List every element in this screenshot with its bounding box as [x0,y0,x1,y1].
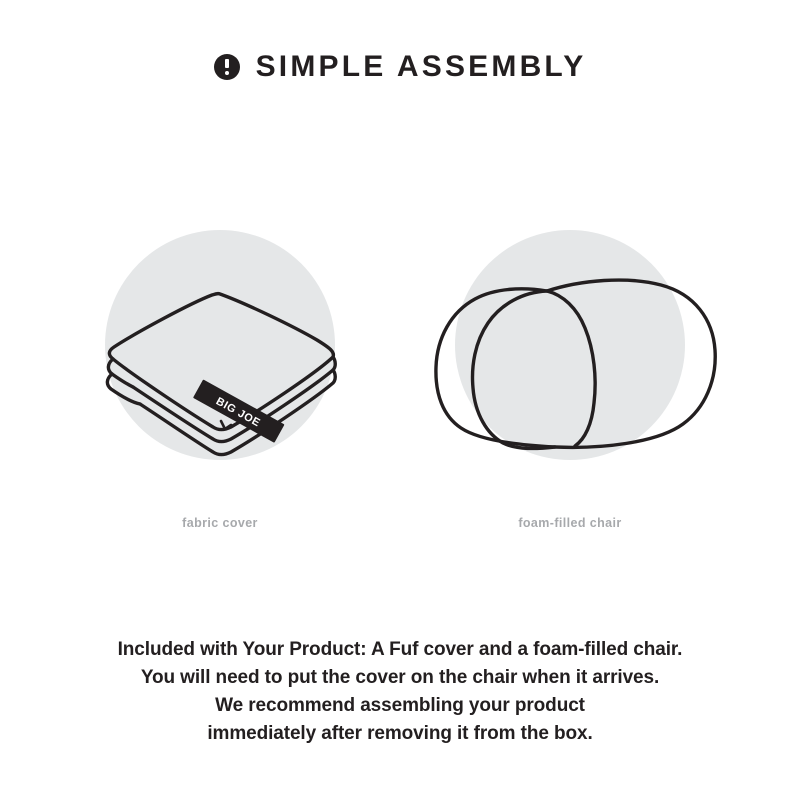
foam-filled-chair-illustration [395,228,745,478]
fabric-cover-illustration: BIG JOE [45,228,395,478]
footer-line-4: immediately after removing it from the b… [0,720,800,748]
panel-foam-filled-chair: foam-filled chair [395,228,745,548]
caption-foam-filled-chair: foam-filled chair [395,516,745,530]
footer-line-2: You will need to put the cover on the ch… [0,664,800,692]
footer-description: Included with Your Product: A Fuf cover … [0,636,800,748]
footer-line-1: Included with Your Product: A Fuf cover … [0,636,800,664]
caption-fabric-cover: fabric cover [45,516,395,530]
exclamation-circle-icon [214,54,240,80]
footer-line-3: We recommend assembling your product [0,692,800,720]
page-header: SIMPLE ASSEMBLY [0,52,800,82]
folded-fabric-cover-art: BIG JOE [45,228,395,478]
foam-filled-chair-art [395,228,745,478]
page-title: SIMPLE ASSEMBLY [256,52,587,82]
illustration-panels: BIG JOE fabric cover [0,228,800,548]
panel-fabric-cover: BIG JOE fabric cover [45,228,395,548]
simple-assembly-infographic: SIMPLE ASSEMBLY [0,0,800,800]
